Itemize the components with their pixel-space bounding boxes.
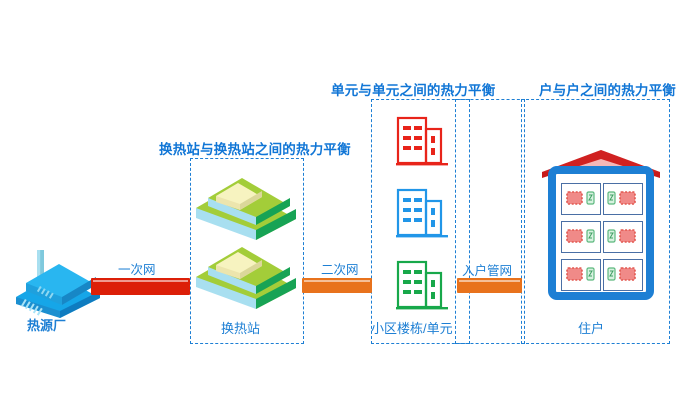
caption-heat-source: 热源厂 — [27, 315, 66, 334]
dashed-box-indoor-network — [455, 99, 525, 344]
apartment-unit — [603, 259, 643, 291]
heading-house-balance: 户与户之间的热力平衡 — [539, 79, 676, 99]
pipe-highlight — [93, 280, 188, 282]
caption-heat-exchange-station: 换热站 — [221, 318, 260, 337]
pipe-highlight — [459, 280, 520, 282]
valve-icon — [586, 229, 595, 243]
apartment-unit — [561, 259, 601, 291]
building-icon-green — [396, 256, 448, 312]
caption-residential-unit: 小区楼栋/单元 — [371, 318, 453, 337]
diagram-canvas: 换热站与换热站之间的热力平衡 单元与单元之间的热力平衡 户与户之间的热力平衡 — [0, 0, 677, 417]
pipe-highlight — [304, 280, 370, 282]
apartment-unit — [561, 183, 601, 215]
heading-station-balance: 换热站与换热站之间的热力平衡 — [159, 138, 351, 158]
pipe-label-primary: 一次网 — [118, 259, 156, 278]
radiator-icon — [565, 190, 584, 206]
resident-building-icon — [534, 148, 668, 310]
apartment-unit — [603, 183, 643, 215]
pipe-primary-network — [91, 278, 190, 295]
valve-icon — [607, 191, 616, 205]
radiator-icon — [618, 266, 637, 282]
caption-resident: 住户 — [578, 318, 604, 337]
apartment-unit — [603, 221, 643, 253]
valve-icon — [586, 267, 595, 281]
building-icon-red — [396, 112, 448, 168]
building-icon-blue — [396, 184, 448, 240]
radiator-icon — [565, 228, 584, 244]
pipe-label-secondary: 二次网 — [321, 259, 359, 278]
apartment-unit — [561, 221, 601, 253]
pipe-label-indoor: 入户管网 — [462, 260, 512, 279]
valve-icon — [607, 267, 616, 281]
radiator-icon — [565, 266, 584, 282]
heat-exchanger-block-upper — [196, 168, 296, 240]
heat-exchanger-block-lower — [196, 237, 296, 309]
radiator-icon — [618, 190, 637, 206]
radiator-icon — [618, 228, 637, 244]
valve-icon — [607, 229, 616, 243]
pipe-secondary-network — [302, 278, 372, 293]
valve-icon — [586, 191, 595, 205]
pipe-indoor-network — [457, 278, 522, 293]
heading-unit-balance: 单元与单元之间的热力平衡 — [331, 79, 495, 99]
